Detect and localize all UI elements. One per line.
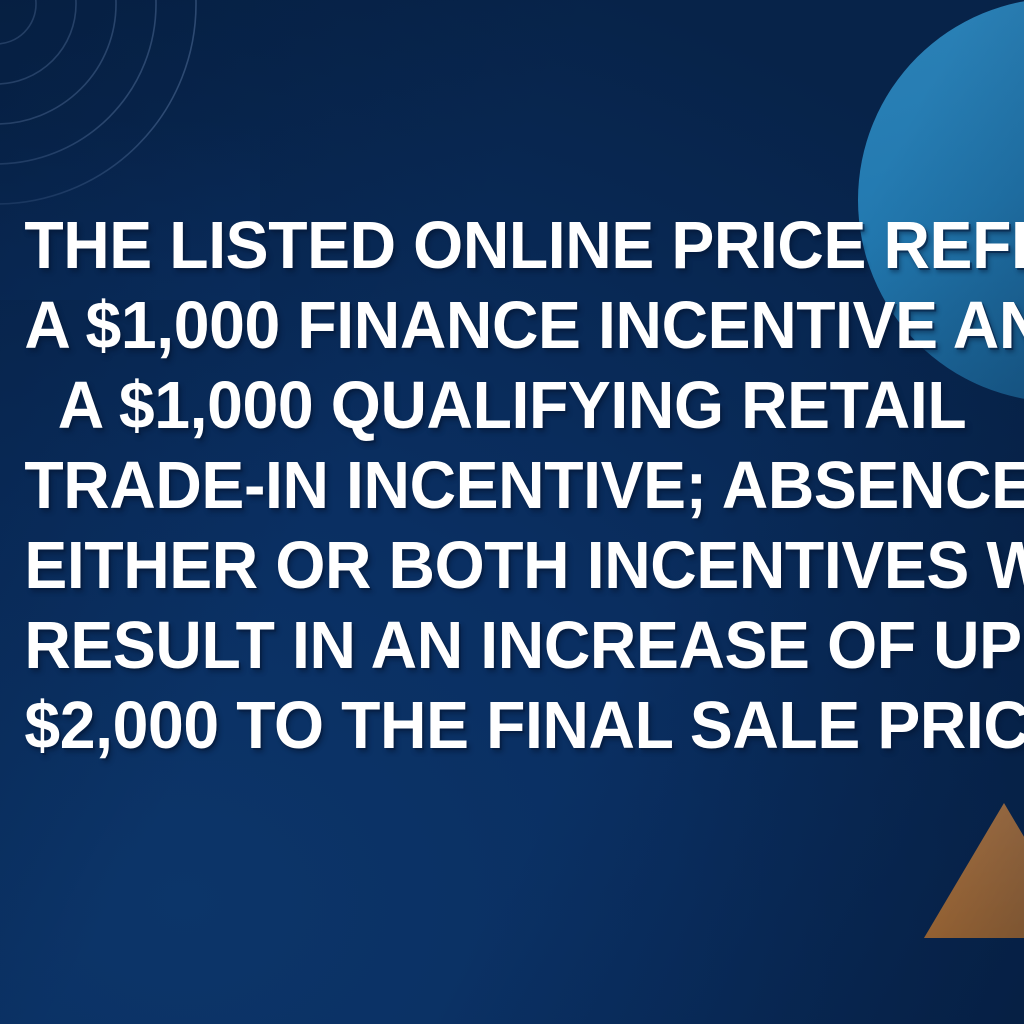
- headline-line-5: EITHER OR BOTH INCENTIVES WILL: [24, 526, 999, 606]
- accent-triangle: [924, 803, 1024, 938]
- graphic-canvas: THE LISTED ONLINE PRICE REFLECTS A $1,00…: [0, 0, 1024, 1024]
- headline-line-1: THE LISTED ONLINE PRICE REFLECTS: [24, 206, 999, 286]
- headline-line-6: RESULT IN AN INCREASE OF UP TO: [24, 606, 999, 686]
- headline-block: THE LISTED ONLINE PRICE REFLECTS A $1,00…: [0, 206, 1024, 766]
- headline-line-7: $2,000 TO THE FINAL SALE PRICE.: [24, 686, 999, 766]
- headline-line-3: A $1,000 QUALIFYING RETAIL: [24, 366, 999, 446]
- headline-line-2: A $1,000 FINANCE INCENTIVE AND: [24, 286, 999, 366]
- headline-line-4: TRADE-IN INCENTIVE; ABSENCE OF: [24, 446, 999, 526]
